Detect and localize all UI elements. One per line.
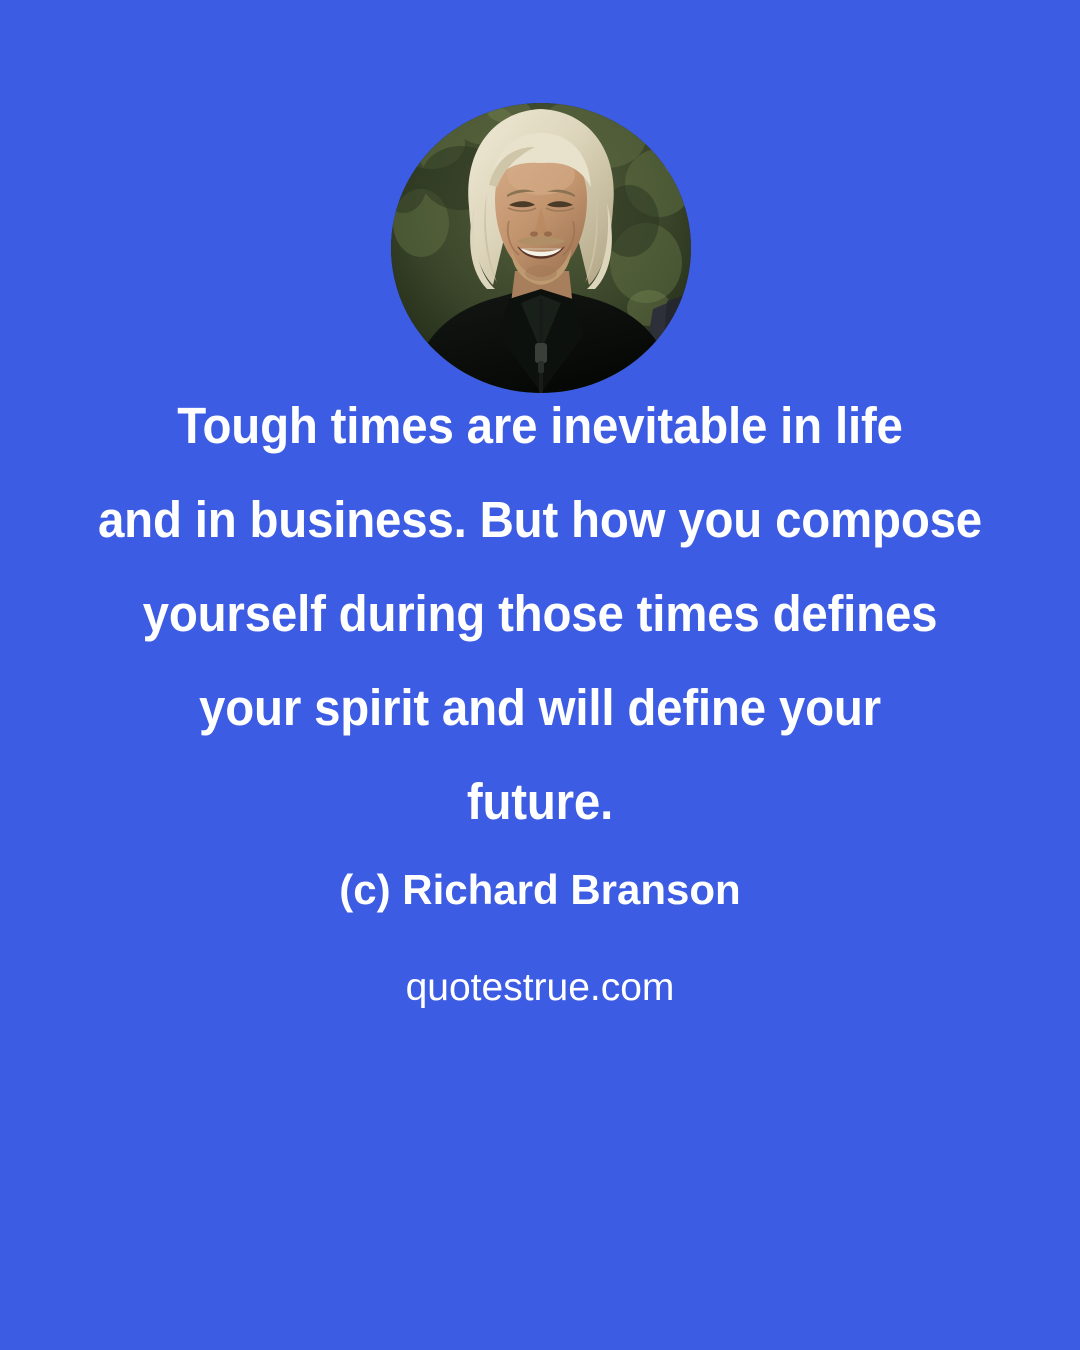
author-portrait-image (391, 103, 691, 393)
quote-card: Tough times are inevitable in life and i… (0, 0, 1080, 1350)
quote-line: yourself during those times defines (38, 567, 1042, 661)
quote-line: your spirit and will define your (38, 661, 1042, 755)
quote-line: future. (38, 755, 1042, 849)
quote-attribution: (c) Richard Branson (0, 862, 1080, 918)
author-portrait-avatar (391, 103, 691, 393)
quote-line: and in business. But how you compose (38, 473, 1042, 567)
source-website-label: quotestrue.com (0, 960, 1080, 1016)
quote-text: Tough times are inevitable in life and i… (38, 379, 1042, 849)
quote-line: Tough times are inevitable in life (38, 379, 1042, 473)
